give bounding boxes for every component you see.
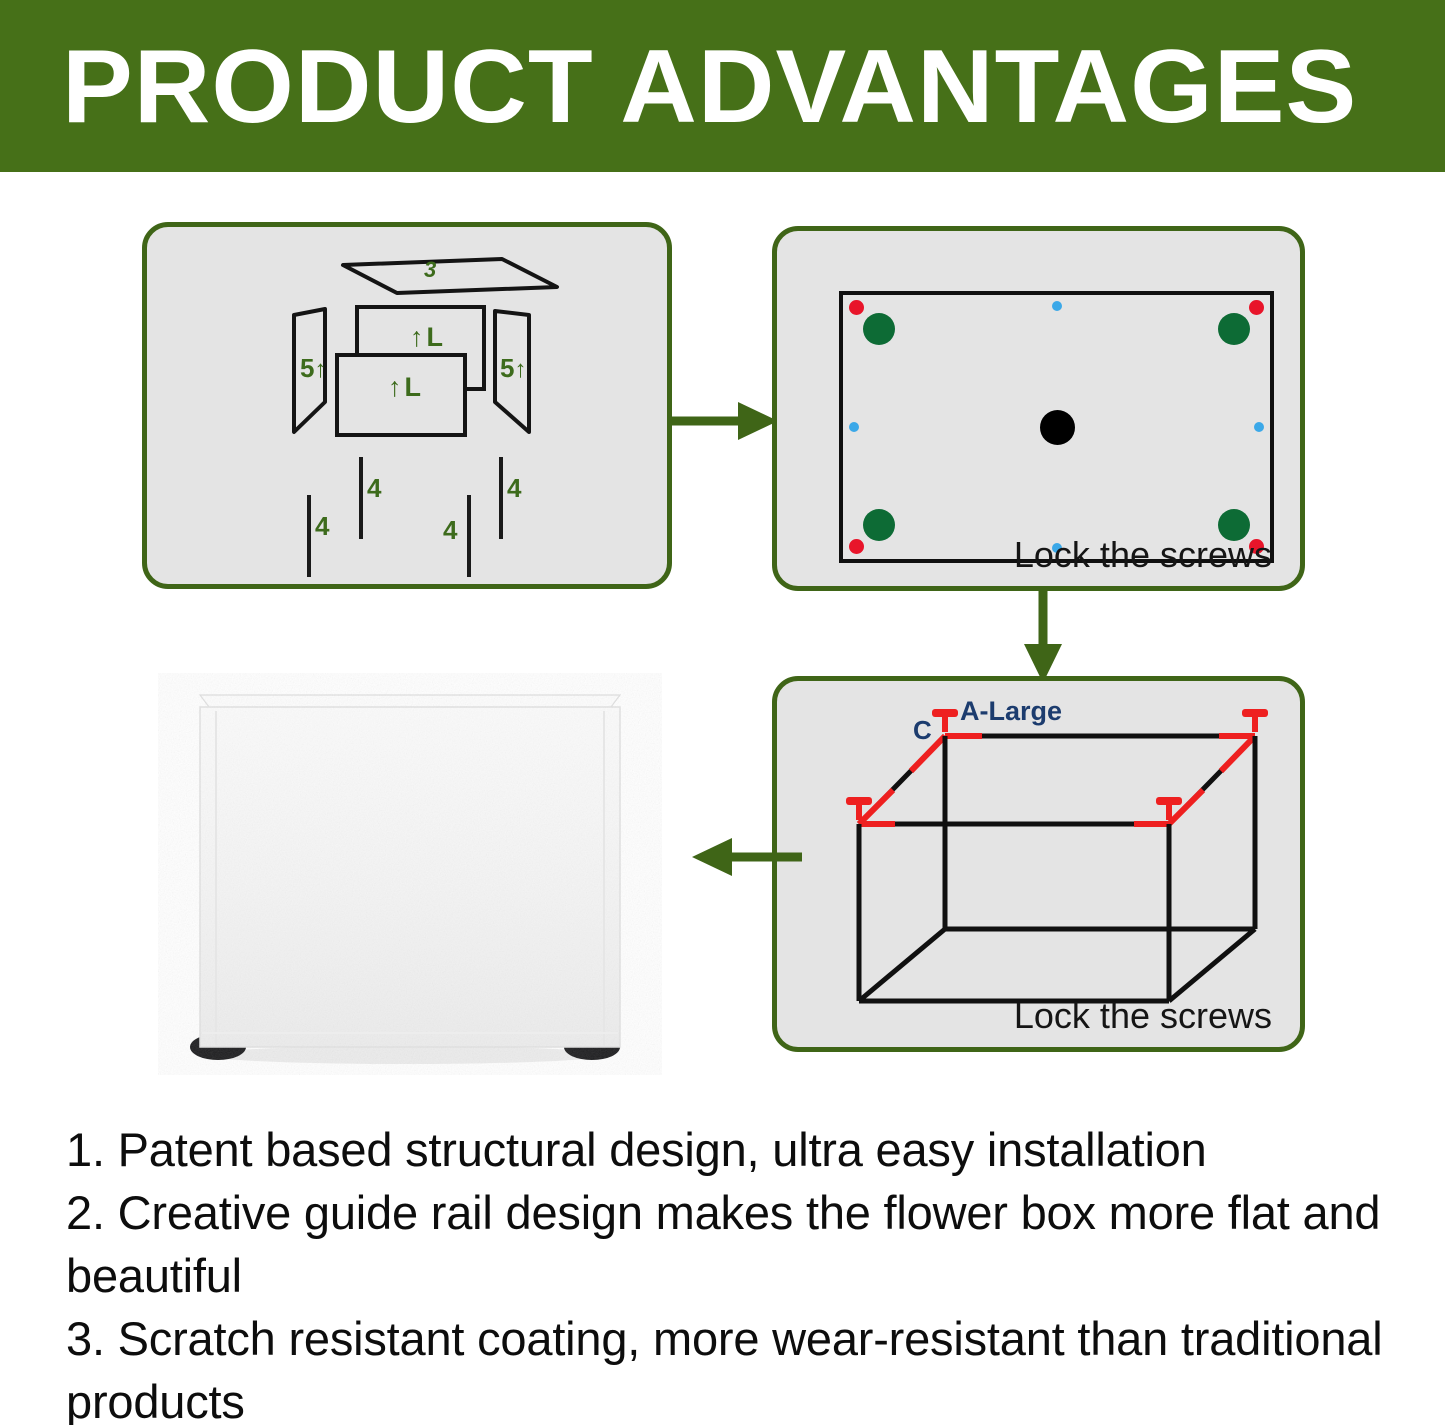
panel-assembled-box: C A-Large Lock the screws xyxy=(772,676,1305,1052)
panel-exploded-assembly: 3 ↑L ↑L 5↑ 5↑ 4 4 4 4 xyxy=(142,222,672,589)
product-photo xyxy=(150,655,670,1075)
label-right-side-group: 5↑ xyxy=(500,353,526,384)
screw-red-bottom-left xyxy=(849,539,864,554)
label-front-panel-group: ↑L xyxy=(388,372,421,403)
panel-base-plate: Lock the screws xyxy=(772,226,1305,591)
up-arrow-icon: ↑ xyxy=(388,372,402,402)
guide-rail-line xyxy=(467,495,471,577)
label-front-panel: L xyxy=(405,372,422,402)
base-plate-outline xyxy=(839,291,1274,563)
page-title: PRODUCT ADVANTAGES xyxy=(62,32,1419,142)
ground-shadow xyxy=(205,1046,605,1064)
header-banner: PRODUCT ADVANTAGES xyxy=(0,0,1445,172)
screw-red-top-left xyxy=(849,300,864,315)
label-back-panel: L xyxy=(427,322,444,352)
label-left-side-group: 5↑ xyxy=(300,353,326,384)
screw-green-top-right xyxy=(1218,313,1250,345)
screw-icon xyxy=(1242,709,1268,732)
label-rail-1: 4 xyxy=(315,511,329,542)
up-arrow-icon: ↑ xyxy=(314,356,326,383)
label-rail-2: 4 xyxy=(367,473,381,504)
screw-icon xyxy=(932,709,958,732)
guide-rail-line xyxy=(307,495,311,577)
flow-arrow-down-icon xyxy=(1012,588,1074,684)
up-arrow-icon: ↑ xyxy=(410,322,424,352)
top-plate-shape xyxy=(343,259,557,293)
caption-lock-the-screws: Lock the screws xyxy=(1014,534,1272,576)
screw-green-bottom-left xyxy=(863,509,895,541)
up-arrow-icon: ↑ xyxy=(514,356,526,383)
advantage-item-2: 2. Creative guide rail design makes the … xyxy=(66,1181,1396,1307)
label-rail-4: 4 xyxy=(507,473,521,504)
guide-rail-line xyxy=(359,457,363,539)
front-face xyxy=(200,707,620,1047)
marker-blue-left xyxy=(849,422,859,432)
flow-arrow-left-icon xyxy=(690,826,802,888)
exploded-assembly-drawing xyxy=(147,227,677,594)
product-advantages-infographic: PRODUCT ADVANTAGES 3 ↑L ↑L 5↑ xyxy=(0,0,1445,1425)
marker-blue-right xyxy=(1254,422,1264,432)
label-back-panel-group: ↑L xyxy=(410,322,443,353)
screw-green-top-left xyxy=(863,313,895,345)
flow-arrow-right-icon xyxy=(668,390,780,452)
advantages-list: 1. Patent based structural design, ultra… xyxy=(66,1118,1396,1425)
label-rail-3: 4 xyxy=(443,515,457,546)
advantage-item-1: 1. Patent based structural design, ultra… xyxy=(66,1118,1396,1181)
label-corner-c: C xyxy=(913,715,932,746)
screw-red-top-right xyxy=(1249,300,1264,315)
label-top-plate-thickness: 3 xyxy=(424,257,436,283)
label-left-side: 5 xyxy=(300,353,314,383)
marker-blue-top xyxy=(1052,301,1062,311)
label-a-large: A-Large xyxy=(960,696,1062,727)
advantage-item-3: 3. Scratch resistant coating, more wear-… xyxy=(66,1307,1396,1425)
caption-lock-the-screws: Lock the screws xyxy=(1014,995,1272,1037)
label-right-side: 5 xyxy=(500,353,514,383)
guide-rail-line xyxy=(499,457,503,539)
center-drain-hole xyxy=(1040,410,1075,445)
